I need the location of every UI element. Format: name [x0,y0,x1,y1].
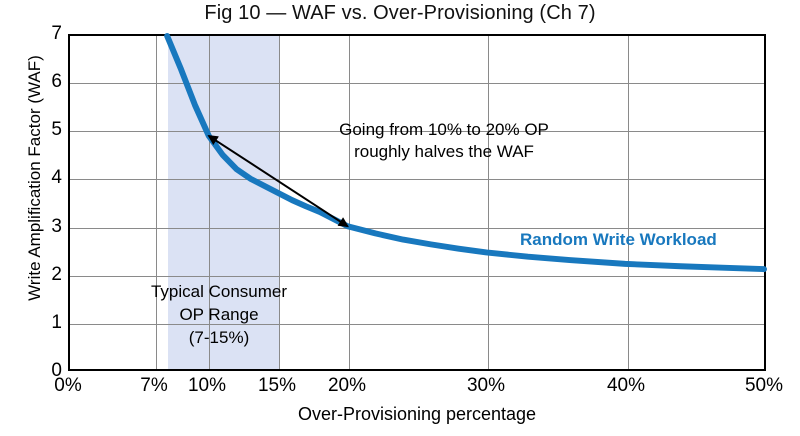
band-label-line-2: OP Range [94,303,344,326]
x-tick-0pct: 0% [54,376,81,395]
y-tick-6: 6 [18,72,62,91]
x-tick-30pct: 30% [467,376,505,395]
x-tick-50pct: 50% [745,376,783,395]
x-tick-15pct: 15% [258,376,296,395]
annotation-line-2: roughly halves the WAF [294,141,594,163]
band-label: Typical Consumer OP Range (7-15%) [94,280,344,349]
band-label-line-3: (7-15%) [94,326,344,349]
x-axis-title: Over-Provisioning percentage [68,404,766,425]
x-tick-10pct: 10% [188,376,226,395]
x-tick-20pct: 20% [328,376,366,395]
y-tick-5: 5 [18,120,62,139]
chart-title: Fig 10 — WAF vs. Over-Provisioning (Ch 7… [0,2,800,25]
chart-figure: Fig 10 — WAF vs. Over-Provisioning (Ch 7… [0,0,800,436]
annotation-note: Going from 10% to 20% OP roughly halves … [294,119,594,163]
x-tick-40pct: 40% [607,376,645,395]
series-label-random-write: Random Write Workload [520,230,717,250]
annotation-line-1: Going from 10% to 20% OP [294,119,594,141]
band-label-line-1: Typical Consumer [94,280,344,303]
y-tick-7: 7 [18,24,62,43]
y-axis-tick-labels: 7 6 5 4 3 2 1 0 [14,34,62,371]
y-tick-2: 2 [18,265,62,284]
y-tick-3: 3 [18,217,62,236]
x-tick-7pct: 7% [140,376,167,395]
y-tick-1: 1 [18,313,62,332]
y-tick-4: 4 [18,168,62,187]
plot-area: Typical Consumer OP Range (7-15%) Going … [68,34,766,371]
